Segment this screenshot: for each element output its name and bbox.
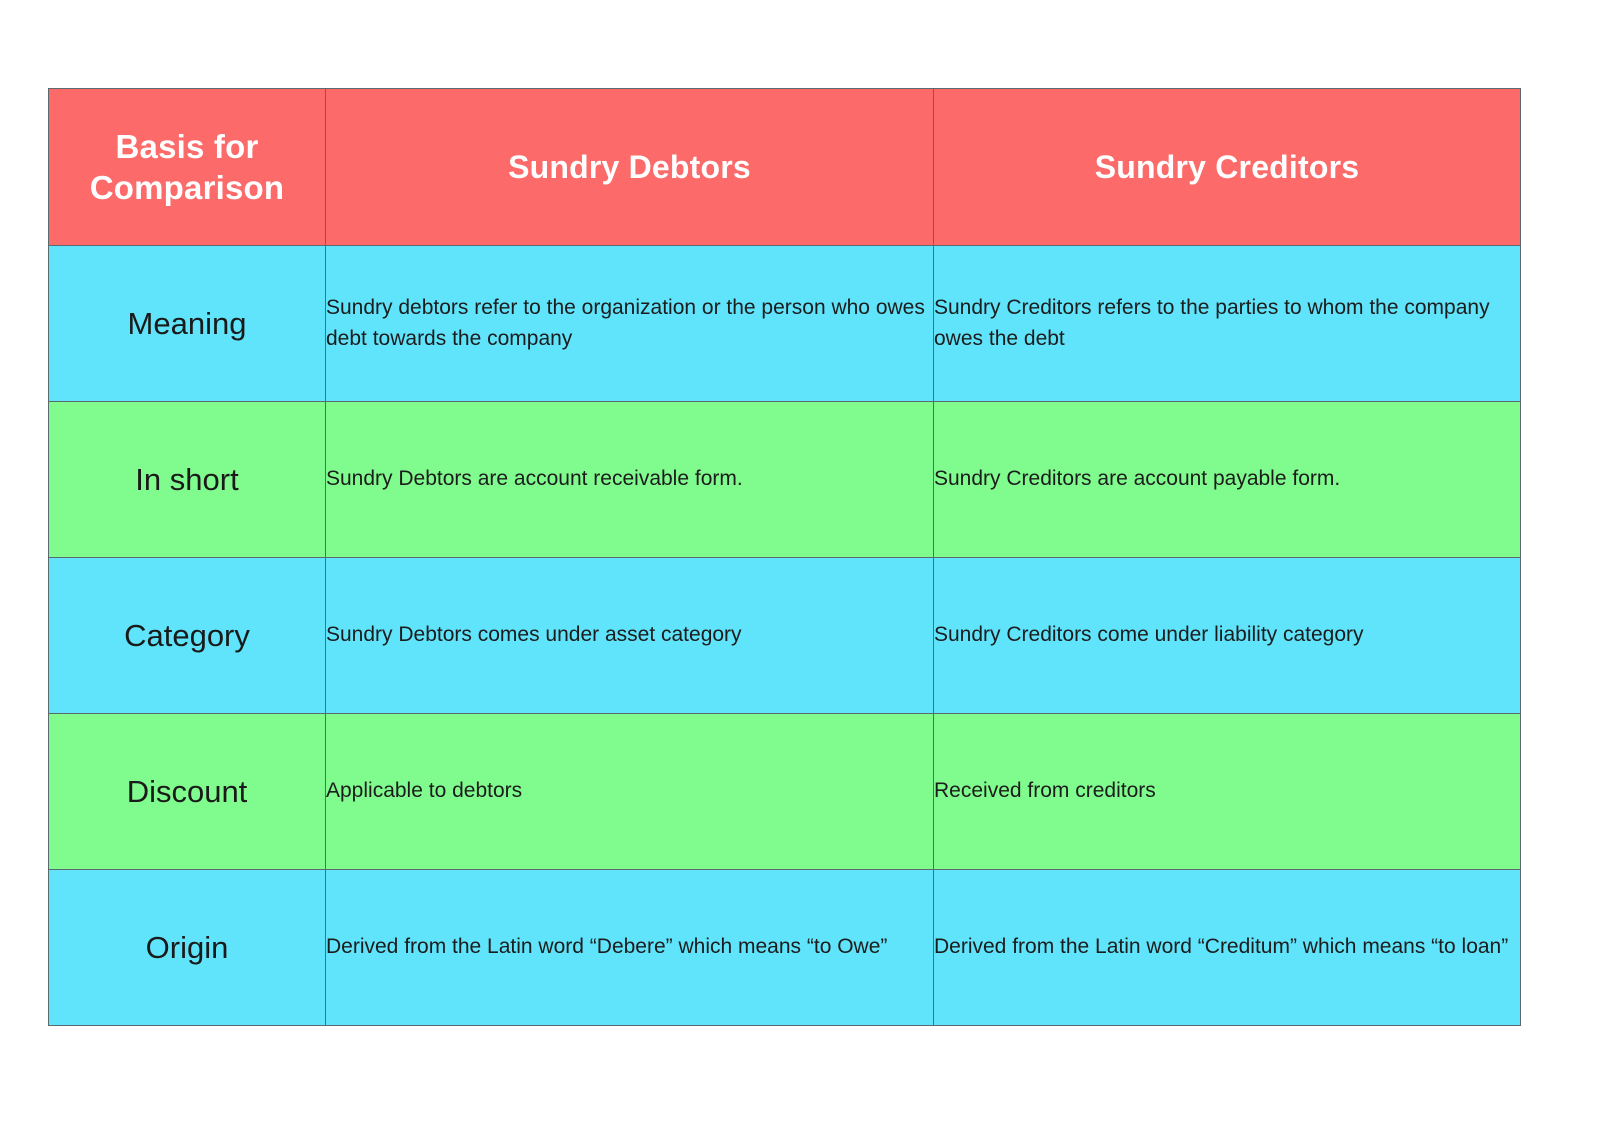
row-creditors-origin: Derived from the Latin word “Creditum” w… — [934, 870, 1521, 1026]
row-basis-category: Category — [49, 558, 326, 714]
row-basis-origin: Origin — [49, 870, 326, 1026]
row-debtors-meaning: Sundry debtors refer to the organization… — [326, 246, 934, 402]
column-header-debtors: Sundry Debtors — [326, 89, 934, 246]
column-header-creditors-label: Sundry Creditors — [934, 147, 1520, 187]
table-row: Origin Derived from the Latin word “Debe… — [49, 870, 1521, 1026]
table-row: Discount Applicable to debtors Received … — [49, 714, 1521, 870]
row-basis-meaning: Meaning — [49, 246, 326, 402]
column-header-basis: Basis for Comparison — [49, 89, 326, 246]
comparison-table: Basis for Comparison Sundry Debtors Sund… — [48, 88, 1521, 1026]
row-creditors-in-short: Sundry Creditors are account payable for… — [934, 402, 1521, 558]
row-debtors-origin: Derived from the Latin word “Debere” whi… — [326, 870, 934, 1026]
column-header-debtors-label: Sundry Debtors — [326, 147, 933, 187]
row-debtors-in-short: Sundry Debtors are account receivable fo… — [326, 402, 934, 558]
row-basis-in-short: In short — [49, 402, 326, 558]
header-row: Basis for Comparison Sundry Debtors Sund… — [49, 89, 1521, 246]
row-debtors-discount: Applicable to debtors — [326, 714, 934, 870]
table-header: Basis for Comparison Sundry Debtors Sund… — [49, 89, 1521, 246]
table-row: In short Sundry Debtors are account rece… — [49, 402, 1521, 558]
table-row: Category Sundry Debtors comes under asse… — [49, 558, 1521, 714]
column-header-basis-label: Basis for Comparison — [49, 126, 325, 209]
row-debtors-category: Sundry Debtors comes under asset categor… — [326, 558, 934, 714]
row-creditors-category: Sundry Creditors come under liability ca… — [934, 558, 1521, 714]
table-row: Meaning Sundry debtors refer to the orga… — [49, 246, 1521, 402]
column-header-creditors: Sundry Creditors — [934, 89, 1521, 246]
page-canvas: Basis for Comparison Sundry Debtors Sund… — [0, 0, 1600, 1132]
row-basis-discount: Discount — [49, 714, 326, 870]
table-body: Meaning Sundry debtors refer to the orga… — [49, 246, 1521, 1026]
row-creditors-discount: Received from creditors — [934, 714, 1521, 870]
row-creditors-meaning: Sundry Creditors refers to the parties t… — [934, 246, 1521, 402]
